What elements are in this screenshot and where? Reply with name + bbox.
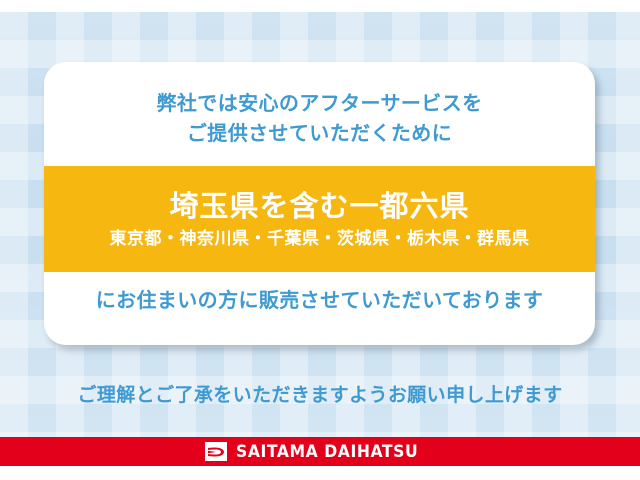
region-headline: 埼玉県を含む一都六県 [169,187,469,225]
notice-card: 弊社では安心のアフターサービスを ご提供させていただくために 埼玉県を含む一都六… [44,62,595,345]
closing-text: にお住まいの方に販売させていただいております [44,286,595,314]
intro-line-2: ご提供させていただくために [44,118,595,148]
intro-line-1: 弊社では安心のアフターサービスを [44,88,595,118]
promo-banner: 弊社では安心のアフターサービスを ご提供させていただくために 埼玉県を含む一都六… [0,0,640,480]
top-white-strip [0,0,640,12]
daihatsu-d-logo-icon [205,442,227,461]
request-text: ご理解とご了承をいただきますようお願い申し上げます [0,380,640,407]
brand-name: SAITAMA DAIHATSU [236,442,418,462]
brand-footer: SAITAMA DAIHATSU [0,437,640,466]
intro-text: 弊社では安心のアフターサービスを ご提供させていただくために [44,88,595,148]
bottom-white-strip [0,466,640,480]
prefecture-list: 東京都・神奈川県・千葉県・茨城県・栃木県・群馬県 [110,227,530,251]
region-highlight-band: 埼玉県を含む一都六県 東京都・神奈川県・千葉県・茨城県・栃木県・群馬県 [44,166,595,272]
